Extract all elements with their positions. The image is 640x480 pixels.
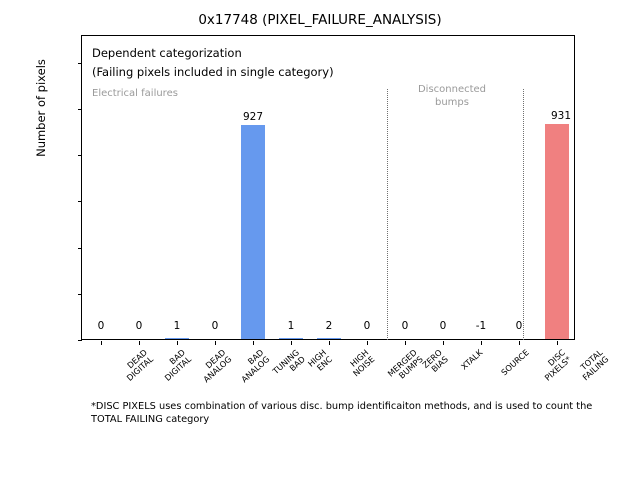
- footnote-line1: *DISC PIXELS uses combination of various…: [91, 401, 503, 412]
- group-divider-left: [387, 89, 388, 340]
- x-tick-mark-6: [329, 341, 330, 345]
- annotation-group-disconnected: Disconnected bumps: [392, 84, 512, 109]
- annotation-group-disconnected-line1: Disconnected: [392, 84, 512, 97]
- x-tick-label-0: DEAD DIGITAL: [119, 348, 155, 383]
- x-tick-label-7: MERGED BUMPS: [386, 348, 425, 386]
- x-tick-mark-7: [367, 341, 368, 345]
- x-tick-label-4: TUNING BAD: [271, 348, 307, 383]
- annotation-headline-2: (Failing pixels included in single categ…: [92, 65, 334, 79]
- bar-value-9: 0: [423, 321, 463, 332]
- bar-dead-analog[interactable]: [165, 338, 189, 339]
- x-tick-label-12: TOTAL FAILING: [575, 348, 611, 383]
- x-tick-label-6: HIGH NOISE: [346, 348, 377, 379]
- bar-value-1: 0: [119, 321, 159, 332]
- bar-value-4: 927: [223, 112, 283, 123]
- y-tick-mark-0: [78, 340, 82, 341]
- plot-area: Dependent categorization (Failing pixels…: [81, 35, 575, 340]
- group-divider-right: [523, 89, 524, 340]
- x-tick-mark-12: [557, 341, 558, 345]
- figure-canvas: 0x17748 (PIXEL_FAILURE_ANALYSIS) Number …: [0, 0, 640, 480]
- y-tick-mark-400: [78, 248, 82, 249]
- x-tick-mark-2: [177, 341, 178, 345]
- annotation-headline-1: Dependent categorization: [92, 46, 242, 60]
- x-tick-mark-5: [291, 341, 292, 345]
- page-title: 0x17748 (PIXEL_FAILURE_ANALYSIS): [0, 12, 640, 28]
- footnote: *DISC PIXELS uses combination of various…: [91, 401, 611, 427]
- x-tick-label-9-line1: XTALK: [460, 348, 485, 372]
- x-tick-mark-8: [405, 341, 406, 345]
- bar-total-failing[interactable]: [545, 124, 569, 339]
- bar-value-6: 2: [309, 321, 349, 332]
- x-tick-label-11: DISC PIXELS*: [537, 348, 573, 383]
- y-tick-mark-800: [78, 155, 82, 156]
- x-tick-label-8: ZERO BIAS: [421, 348, 450, 377]
- y-tick-mark-200: [78, 294, 82, 295]
- x-tick-label-2: DEAD ANALOG: [196, 348, 234, 385]
- bar-value-10: -1: [461, 321, 501, 332]
- x-tick-label-3: BAD ANALOG: [234, 348, 272, 385]
- bar-value-0: 0: [81, 321, 121, 332]
- y-tick-mark-1200: [78, 63, 82, 64]
- bar-value-3: 0: [195, 321, 235, 332]
- x-tick-label-9: XTALK: [460, 348, 485, 372]
- x-tick-mark-10: [481, 341, 482, 345]
- x-tick-mark-3: [215, 341, 216, 345]
- annotation-group-electrical: Electrical failures: [92, 88, 178, 101]
- x-tick-mark-4: [253, 341, 254, 345]
- x-tick-mark-1: [139, 341, 140, 345]
- x-tick-label-10: SOURCE: [500, 348, 531, 377]
- bar-value-5: 1: [271, 321, 311, 332]
- bar-value-8: 0: [385, 321, 425, 332]
- bar-value-7: 0: [347, 321, 387, 332]
- x-tick-mark-9: [443, 341, 444, 345]
- x-tick-mark-11: [519, 341, 520, 345]
- x-tick-mark-0: [101, 341, 102, 345]
- annotation-group-disconnected-line2: bumps: [392, 97, 512, 110]
- bar-value-11: 0: [499, 321, 539, 332]
- y-tick-mark-1000: [78, 109, 82, 110]
- x-tick-label-5: HIGH ENC: [306, 348, 334, 376]
- y-axis-label: Number of pixels: [34, 8, 48, 208]
- x-tick-label-10-line1: SOURCE: [500, 348, 531, 377]
- bar-value-12: 931: [551, 111, 611, 122]
- bar-value-2: 1: [157, 321, 197, 332]
- x-tick-label-1: BAD DIGITAL: [157, 348, 193, 383]
- bar-tuning-bad[interactable]: [241, 125, 265, 339]
- y-tick-mark-600: [78, 201, 82, 202]
- bar-high-noise[interactable]: [317, 338, 341, 339]
- bar-high-enc[interactable]: [279, 338, 303, 339]
